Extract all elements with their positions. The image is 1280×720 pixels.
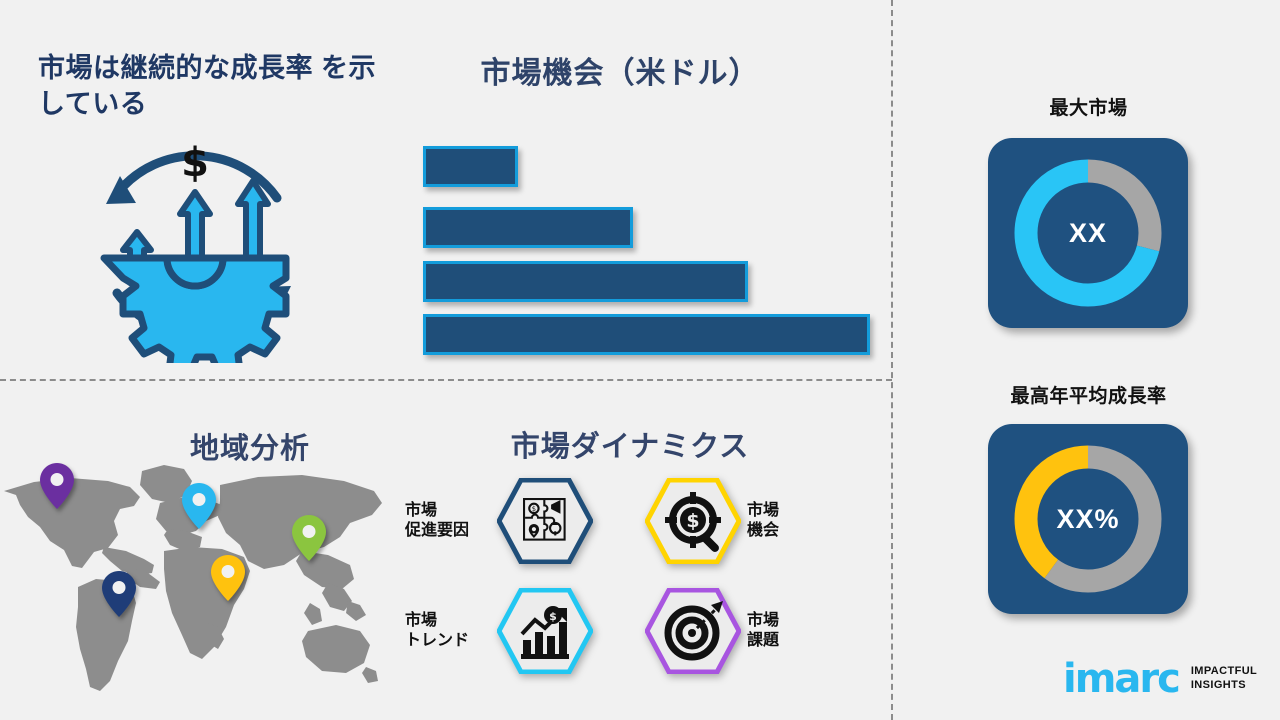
highest-cagr-title: 最高年平均成長率: [986, 381, 1191, 408]
pin-asia: [292, 515, 326, 566]
dynamics-item-opportunities[interactable]: $ 市場 機会: [645, 478, 827, 564]
svg-text:$: $: [686, 510, 699, 532]
bar-2: [423, 207, 633, 248]
bar-3: [423, 261, 748, 302]
dynamics-item-trends[interactable]: 市場 トレンド $: [405, 588, 593, 674]
svg-text:$: $: [532, 505, 536, 513]
puzzle-pieces-icon: $: [497, 478, 593, 564]
highest-cagr-donut: [988, 424, 1188, 614]
imarc-logo-wordmark: imarc: [1063, 659, 1179, 699]
dollar-symbol: $: [181, 140, 209, 186]
largest-market-donut: [988, 138, 1188, 328]
dynamics-item-trends-label: 市場 トレンド: [405, 611, 497, 651]
opportunity-panel-title: 市場機会（米ドル）: [410, 48, 830, 92]
dynamics-grid: 市場 促進要因 $: [405, 478, 875, 678]
growth-gear-arrows-icon: $: [72, 128, 322, 363]
bar-1: [423, 146, 518, 187]
largest-market-donut-card: XX: [988, 138, 1188, 328]
dynamics-item-challenges[interactable]: 市場 課題: [645, 588, 827, 674]
dynamics-item-drivers[interactable]: 市場 促進要因 $: [405, 478, 593, 564]
pin-europe: [182, 483, 216, 534]
dynamics-panel-title: 市場ダイナミクス: [465, 423, 795, 465]
largest-market-title: 最大市場: [986, 93, 1191, 120]
target-dart-icon: [645, 588, 741, 674]
magnifier-dollar-icon: $: [645, 478, 741, 564]
pin-south-america: [102, 571, 136, 622]
growth-panel-title: 市場は継続的な成長率 を示している: [38, 50, 388, 123]
bar-chart-growth-icon: $: [497, 588, 593, 674]
slide-canvas: 市場は継続的な成長率 を示している $ 市場機会（米ドル）: [0, 0, 1280, 720]
dynamics-item-drivers-label: 市場 促進要因: [405, 501, 497, 541]
horizontal-divider: [0, 379, 892, 381]
pin-north-america: [40, 463, 74, 514]
dynamics-item-opportunities-label: 市場 機会: [747, 501, 827, 541]
imarc-logo-tagline: IMPACTFUL INSIGHTS: [1191, 665, 1257, 693]
svg-text:$: $: [549, 610, 557, 623]
bar-4: [423, 314, 870, 355]
dynamics-item-challenges-label: 市場 課題: [747, 611, 827, 651]
imarc-logo: imarc IMPACTFUL INSIGHTS: [1063, 655, 1253, 703]
opportunity-bar-chart: [423, 146, 883, 351]
highest-cagr-donut-card: XX%: [988, 424, 1188, 614]
vertical-divider: [891, 0, 893, 720]
pin-middle-east-africa: [211, 555, 245, 606]
world-map: [0, 455, 392, 700]
